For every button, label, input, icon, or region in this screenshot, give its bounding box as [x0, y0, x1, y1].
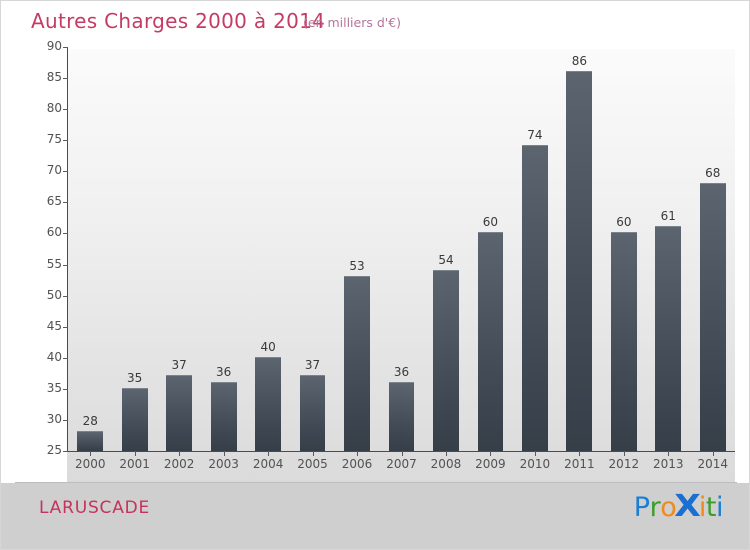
- footer-bar: LARUSCADE ProXiti: [1, 483, 750, 550]
- x-tick-label: 2003: [201, 457, 245, 471]
- bar-value-label: 54: [433, 253, 459, 267]
- proxiti-logo[interactable]: ProXiti: [634, 489, 723, 524]
- x-tick-label: 2001: [112, 457, 156, 471]
- chart-subtitle-units: (en milliers d'€): [303, 15, 401, 30]
- x-tick-label: 2010: [513, 457, 557, 471]
- y-tick: 70: [15, 171, 71, 172]
- bar[interactable]: [344, 276, 370, 451]
- logo-letter: r: [650, 492, 661, 523]
- bar-value-label: 86: [566, 54, 592, 68]
- bar-group[interactable]: 36: [389, 47, 415, 451]
- bar[interactable]: [211, 382, 237, 451]
- x-tick-label: 2005: [290, 457, 334, 471]
- bar-group[interactable]: 37: [166, 47, 192, 451]
- y-tick-mark: [63, 451, 68, 452]
- y-tick-label: 70: [47, 163, 62, 177]
- x-tick-mark: [402, 451, 403, 456]
- x-tick-mark: [446, 451, 447, 456]
- bar-group[interactable]: 74: [522, 47, 548, 451]
- bar[interactable]: [255, 357, 281, 451]
- bar-value-label: 68: [700, 166, 726, 180]
- bar[interactable]: [433, 270, 459, 451]
- chart-screenshot: Autres Charges 2000 à 2014 (en milliers …: [0, 0, 750, 550]
- bar[interactable]: [478, 232, 504, 451]
- bar-group[interactable]: 36: [211, 47, 237, 451]
- bar-value-label: 37: [166, 358, 192, 372]
- y-tick-label: 85: [47, 70, 62, 84]
- bar[interactable]: [611, 232, 637, 451]
- bar-group[interactable]: 54: [433, 47, 459, 451]
- y-tick: 55: [15, 265, 71, 266]
- bar-value-label: 28: [77, 414, 103, 428]
- bar-value-label: 37: [300, 358, 326, 372]
- bar-value-label: 36: [389, 365, 415, 379]
- y-tick-label: 80: [47, 101, 62, 115]
- logo-letter: i: [716, 492, 723, 523]
- area-name-label: LARUSCADE: [39, 498, 150, 518]
- y-tick: 65: [15, 202, 71, 203]
- y-tick-label: 25: [47, 443, 62, 457]
- title-bar: Autres Charges 2000 à 2014 (en milliers …: [1, 1, 750, 41]
- x-tick-mark: [490, 451, 491, 456]
- bar-group[interactable]: 86: [566, 47, 592, 451]
- bar-group[interactable]: 61: [655, 47, 681, 451]
- x-tick-mark: [313, 451, 314, 456]
- y-tick: 85: [15, 78, 71, 79]
- bar[interactable]: [700, 183, 726, 451]
- bar-value-label: 35: [122, 371, 148, 385]
- x-tick-label: 2013: [646, 457, 690, 471]
- y-tick: 45: [15, 327, 71, 328]
- y-tick-label: 60: [47, 225, 62, 239]
- y-tick: 90: [15, 47, 71, 48]
- x-tick-label: 2006: [335, 457, 379, 471]
- logo-letter: X: [675, 489, 701, 524]
- x-tick-mark: [90, 451, 91, 456]
- y-tick: 30: [15, 420, 71, 421]
- bar-group[interactable]: 37: [300, 47, 326, 451]
- x-tick-label: 2002: [157, 457, 201, 471]
- chart-title: Autres Charges 2000 à 2014: [31, 9, 325, 33]
- bar-value-label: 60: [611, 215, 637, 229]
- x-tick-label: 2011: [557, 457, 601, 471]
- x-tick-label: 2009: [468, 457, 512, 471]
- y-tick-label: 40: [47, 350, 62, 364]
- x-tick-label: 2008: [424, 457, 468, 471]
- y-tick: 25: [15, 451, 71, 452]
- y-tick: 75: [15, 140, 71, 141]
- plot-area: 9085807570656055504540353025 28353736403…: [15, 39, 737, 469]
- bar-group[interactable]: 60: [611, 47, 637, 451]
- y-tick-label: 50: [47, 288, 62, 302]
- y-tick: 80: [15, 109, 71, 110]
- y-tick: 50: [15, 296, 71, 297]
- y-tick: 60: [15, 233, 71, 234]
- y-tick: 40: [15, 358, 71, 359]
- x-tick-mark: [224, 451, 225, 456]
- bar[interactable]: [166, 375, 192, 451]
- bar-group[interactable]: 40: [255, 47, 281, 451]
- bar[interactable]: [655, 226, 681, 451]
- bar-group[interactable]: 60: [478, 47, 504, 451]
- bar-value-label: 60: [478, 215, 504, 229]
- x-tick-mark: [357, 451, 358, 456]
- bar-group[interactable]: 28: [77, 47, 103, 451]
- bar[interactable]: [122, 388, 148, 451]
- x-tick-mark: [668, 451, 669, 456]
- bar-value-label: 53: [344, 259, 370, 273]
- bar-value-label: 36: [211, 365, 237, 379]
- bar-group[interactable]: 53: [344, 47, 370, 451]
- y-tick: 35: [15, 389, 71, 390]
- x-tick-label: 2012: [602, 457, 646, 471]
- x-tick-label: 2000: [68, 457, 112, 471]
- logo-letter: P: [634, 492, 650, 523]
- y-tick-label: 90: [47, 39, 62, 53]
- bar-group[interactable]: 68: [700, 47, 726, 451]
- x-tick-mark: [624, 451, 625, 456]
- bar[interactable]: [566, 71, 592, 451]
- x-tick-label: 2007: [379, 457, 423, 471]
- x-tick-label: 2014: [691, 457, 735, 471]
- x-tick-mark: [179, 451, 180, 456]
- bar[interactable]: [522, 145, 548, 451]
- x-tick-mark: [135, 451, 136, 456]
- y-tick-label: 30: [47, 412, 62, 426]
- bar-value-label: 61: [655, 209, 681, 223]
- x-tick-mark: [268, 451, 269, 456]
- x-tick-mark: [713, 451, 714, 456]
- y-tick-label: 65: [47, 194, 62, 208]
- y-tick-label: 45: [47, 319, 62, 333]
- bar[interactable]: [389, 382, 415, 451]
- bar[interactable]: [300, 375, 326, 451]
- y-tick-label: 55: [47, 257, 62, 271]
- x-tick-label: 2004: [246, 457, 290, 471]
- y-tick-label: 35: [47, 381, 62, 395]
- logo-letter: t: [706, 492, 716, 523]
- bar-value-label: 74: [522, 128, 548, 142]
- y-tick-label: 75: [47, 132, 62, 146]
- x-tick-mark: [579, 451, 580, 456]
- bar-group[interactable]: 35: [122, 47, 148, 451]
- bar-value-label: 40: [255, 340, 281, 354]
- bars-layer: 283537364037533654607486606168: [68, 47, 735, 451]
- x-tick-mark: [535, 451, 536, 456]
- bar[interactable]: [77, 431, 103, 451]
